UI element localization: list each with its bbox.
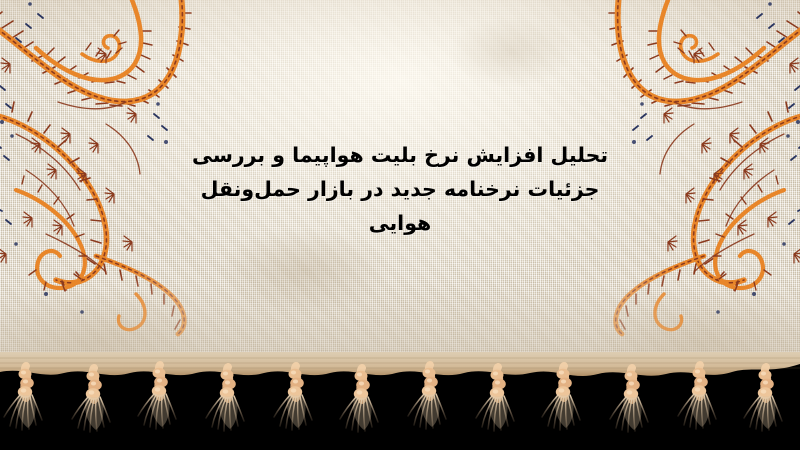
banner-canvas: تحلیل افزایش نرخ بلیت هواپیما و بررسی جز… bbox=[0, 0, 800, 450]
headline-region: تحلیل افزایش نرخ بلیت هواپیما و بررسی جز… bbox=[0, 0, 800, 372]
page-title: تحلیل افزایش نرخ بلیت هواپیما و بررسی جز… bbox=[190, 138, 610, 240]
knotted-tassel-fringe bbox=[0, 352, 800, 450]
